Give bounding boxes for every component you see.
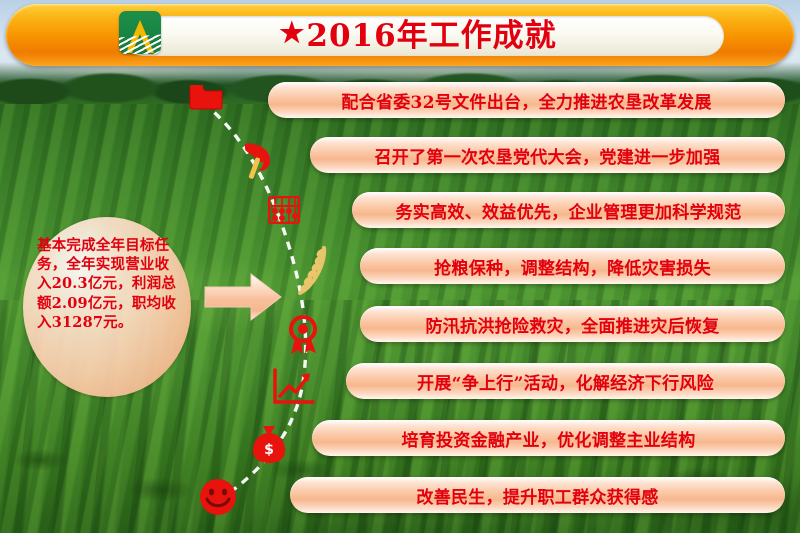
money-bag-icon: $ — [250, 424, 288, 464]
achievement-bar-7[interactable]: 培育投资金融产业，优化调整主业结构 — [312, 420, 785, 456]
achievement-bar-4[interactable]: 抢粮保种，调整结构，降低灾害损失 — [360, 248, 785, 284]
achievement-text-7: 培育投资金融产业，优化调整主业结构 — [401, 426, 695, 451]
achievement-text-6: 开展“争上行”活动，化解经济下行风险 — [417, 369, 714, 394]
achievement-bar-1[interactable]: 配合省委32号文件出台，全力推进农垦改革发展 — [268, 82, 785, 118]
right-arrow — [204, 272, 282, 322]
abacus-icon — [268, 196, 300, 224]
smiley-icon — [198, 477, 238, 517]
page-title-text: 2016年工作成就 — [306, 10, 556, 55]
rosette-icon — [285, 315, 321, 355]
svg-text:$: $ — [264, 442, 274, 458]
achievement-text-2: 召开了第一次农垦党代大会，党建进一步加强 — [375, 143, 721, 168]
achievement-bar-2[interactable]: 召开了第一次农垦党代大会，党建进一步加强 — [310, 137, 785, 173]
achievement-text-8: 改善民生，提升职工群众获得感 — [416, 483, 658, 508]
folder-icon — [188, 82, 224, 110]
achievement-text-3: 务实高效、效益优先，企业管理更加科学规范 — [396, 198, 742, 223]
slide-canvas: $ ★2016年工作成就 基本完成全年目标任务，全年实现 — [0, 0, 800, 533]
page-title: ★2016年工作成就 — [120, 2, 716, 62]
summary-text: 基本完成全年目标任务，全年实现营业收入20.3亿元，利润总额2.09亿元，职均收… — [37, 236, 177, 384]
wheat-icon — [294, 245, 330, 295]
hammer-sickle-icon — [239, 140, 277, 182]
achievement-text-4: 抢粮保种，调整结构，降低灾害损失 — [434, 254, 711, 279]
achievement-bar-6[interactable]: 开展“争上行”活动，化解经济下行风险 — [346, 363, 785, 399]
achievement-text-5: 防汛抗洪抢险救灾，全面推进灾后恢复 — [425, 312, 719, 337]
star-icon: ★ — [279, 16, 305, 49]
chart-arrow-icon — [272, 368, 316, 406]
achievement-text-1: 配合省委32号文件出台，全力推进农垦改革发展 — [341, 88, 711, 113]
achievement-bar-3[interactable]: 务实高效、效益优先，企业管理更加科学规范 — [352, 192, 785, 228]
achievement-bar-5[interactable]: 防汛抗洪抢险救灾，全面推进灾后恢复 — [360, 306, 785, 342]
achievement-bar-8[interactable]: 改善民生，提升职工群众获得感 — [290, 477, 785, 513]
